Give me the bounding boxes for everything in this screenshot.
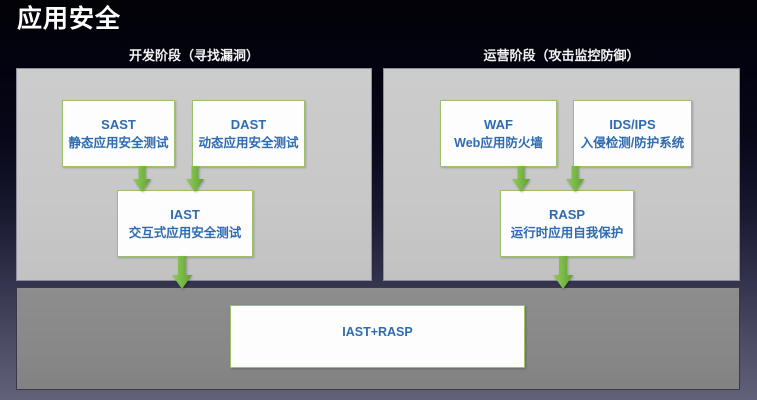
card-ids-ips[interactable]: IDS/IPS 入侵检测/防护系统 [573,100,692,167]
card-dast[interactable]: DAST 动态应用安全测试 [192,100,305,167]
card-dast-description: 动态应用安全测试 [198,134,298,152]
card-iast-acronym: IAST [170,206,200,224]
card-rasp-description: 运行时应用自我保护 [511,224,624,242]
page-title: 应用安全 [17,3,121,35]
phase-caption-development: 开发阶段（寻找漏洞） [16,48,372,64]
card-rasp-acronym: RASP [549,206,585,224]
card-waf-description: Web应用防火墙 [454,134,543,152]
card-waf[interactable]: WAF Web应用防火墙 [440,100,557,167]
arrow-down-icon-iast-to-combined [172,256,192,289]
arrow-down-icon-rasp-to-combined [553,256,573,289]
card-iast-description: 交互式应用安全测试 [129,224,242,242]
card-waf-acronym: WAF [484,116,513,134]
slide-canvas: 应用安全 开发阶段（寻找漏洞） 运营阶段（攻击监控防御） SAST 静态应用安全… [0,0,757,400]
arrow-down-icon-ids-ips-to-rasp [566,166,584,192]
card-sast-acronym: SAST [101,116,136,134]
card-sast[interactable]: SAST 静态应用安全测试 [62,100,175,167]
arrow-down-icon-waf-to-rasp [512,166,530,192]
card-sast-description: 静态应用安全测试 [68,134,168,152]
arrow-down-icon-sast-to-iast [133,166,151,192]
arrow-down-icon-dast-to-iast [186,166,204,192]
card-rasp[interactable]: RASP 运行时应用自我保护 [500,190,634,257]
card-dast-acronym: DAST [231,116,266,134]
card-iast-plus-rasp[interactable]: IAST+RASP [230,305,525,368]
card-ids-ips-description: 入侵检测/防护系统 [581,134,684,152]
card-iast[interactable]: IAST 交互式应用安全测试 [117,190,253,257]
phase-caption-operations: 运营阶段（攻击监控防御） [383,48,740,64]
card-iast-plus-rasp-acronym: IAST+RASP [342,323,413,341]
card-ids-ips-acronym: IDS/IPS [609,116,655,134]
